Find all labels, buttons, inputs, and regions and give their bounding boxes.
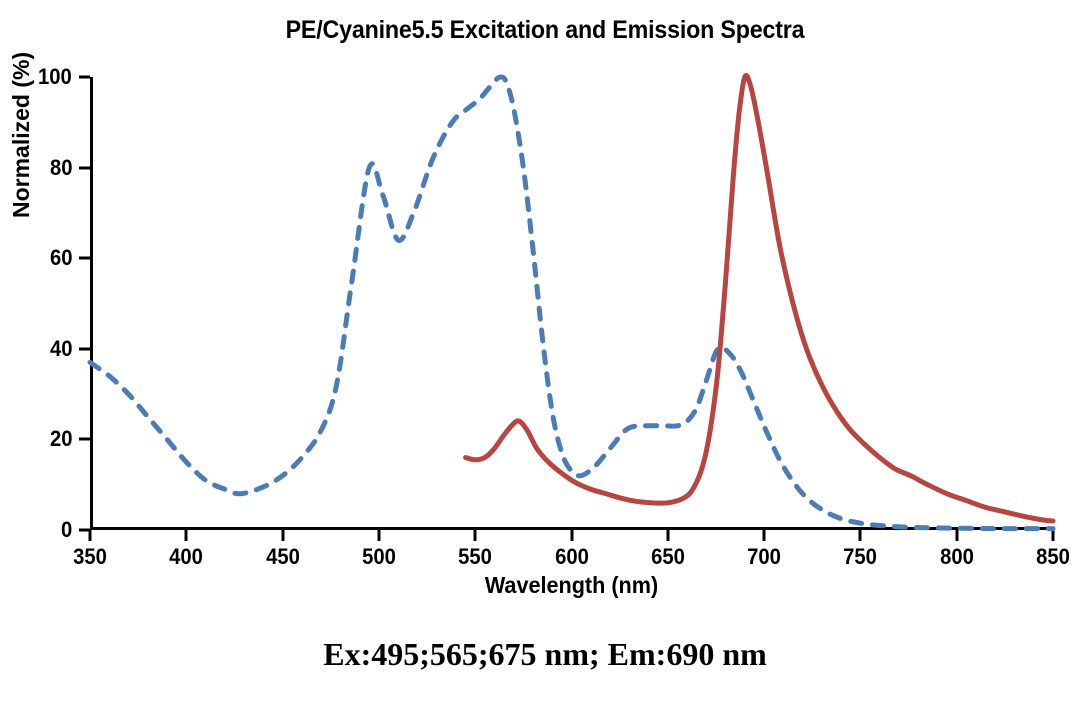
y-tick-mark (79, 76, 90, 79)
x-tick-mark (281, 530, 284, 541)
x-tick-label: 850 (1036, 546, 1070, 568)
x-tick-mark (955, 530, 958, 541)
emission-curve (466, 75, 1053, 521)
x-tick-label: 350 (73, 546, 107, 568)
y-tick-label: 60 (49, 247, 72, 269)
x-tick-mark (185, 530, 188, 541)
y-tick-mark (79, 347, 90, 350)
y-axis-label: Normalized (%) (8, 190, 35, 218)
x-tick-label: 400 (169, 546, 203, 568)
x-tick-label: 450 (266, 546, 300, 568)
spectra-curves (90, 77, 1053, 530)
x-tick-label: 600 (555, 546, 589, 568)
x-tick-label: 500 (362, 546, 396, 568)
x-tick-mark (763, 530, 766, 541)
x-tick-label: 800 (940, 546, 974, 568)
y-tick-label: 80 (49, 157, 72, 179)
spectra-annotation-caption: Ex:495;565;675 nm; Em:690 nm (0, 636, 1090, 673)
x-tick-mark (570, 530, 573, 541)
x-tick-label: 700 (747, 546, 781, 568)
x-tick-mark (474, 530, 477, 541)
x-tick-mark (377, 530, 380, 541)
x-tick-mark (89, 530, 92, 541)
y-tick-label: 40 (49, 338, 72, 360)
y-tick-label: 100 (38, 66, 72, 88)
x-tick-label: 550 (458, 546, 492, 568)
y-tick-mark (79, 166, 90, 169)
y-tick-label: 0 (61, 519, 72, 541)
x-tick-mark (666, 530, 669, 541)
x-tick-label: 750 (844, 546, 878, 568)
y-tick-mark (79, 257, 90, 260)
spectra-figure: PE/Cyanine5.5 Excitation and Emission Sp… (0, 0, 1090, 704)
y-tick-mark (79, 438, 90, 441)
x-tick-mark (1052, 530, 1055, 541)
chart-title: PE/Cyanine5.5 Excitation and Emission Sp… (38, 16, 1052, 45)
plot-area: 020406080100 350400450500550600650700750… (90, 77, 1053, 530)
y-tick-label: 20 (49, 428, 72, 450)
x-tick-label: 650 (651, 546, 685, 568)
excitation-curve (90, 77, 1053, 529)
x-axis-label: Wavelength (nm) (119, 572, 1024, 599)
x-tick-mark (859, 530, 862, 541)
